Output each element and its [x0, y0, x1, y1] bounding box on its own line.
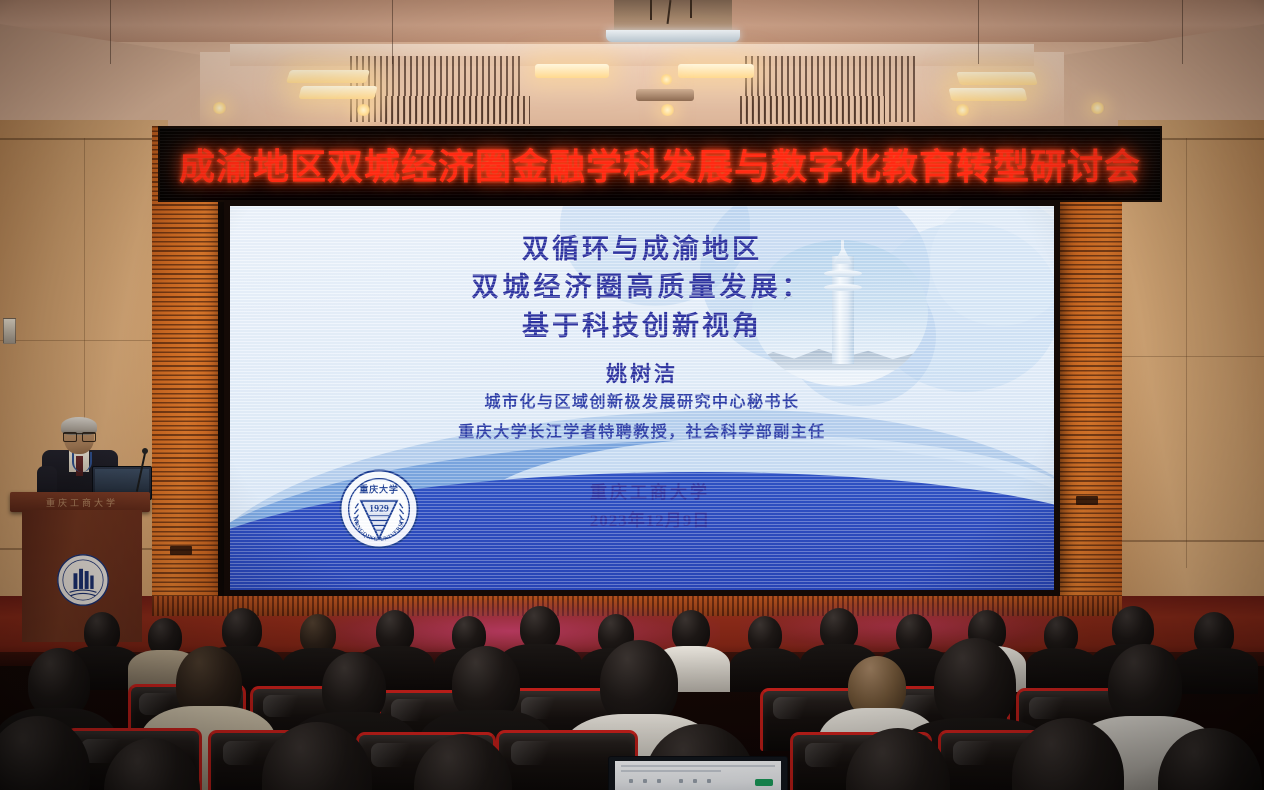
- slide-title-line1: 双循环与成渝地区: [230, 230, 1054, 268]
- wall-outlet: [3, 318, 16, 344]
- slide-date: 2023年12月9日: [350, 506, 950, 531]
- audience: [0, 600, 1264, 790]
- air-vent-icon: [385, 96, 530, 124]
- ceiling-light-icon: [678, 64, 754, 78]
- laptop-ui-dot: [657, 779, 661, 783]
- projector-cable: [690, 0, 692, 18]
- presenter-glasses-bridge: [63, 433, 95, 441]
- downlight-icon: [660, 104, 675, 116]
- cqu-logo-chinese: 重庆大学: [359, 484, 398, 495]
- podium-engraved-text: 重庆工商大学: [24, 492, 140, 512]
- audience-shoulders: [1174, 648, 1258, 694]
- laptop-toolbar: [621, 770, 721, 772]
- ceiling-light-icon: [286, 70, 370, 83]
- audience-head: [934, 638, 1016, 730]
- microphone-head: [142, 448, 148, 454]
- laptop-ui-dot: [693, 779, 697, 783]
- seat-gloss: [773, 697, 831, 719]
- wall-seam: [1118, 356, 1264, 357]
- audience-shoulders: [1026, 648, 1098, 692]
- projection-screen: 双循环与成渝地区 双城经济圈高质量发展： 基于科技创新视角 姚树洁 城市化与区域…: [224, 200, 1060, 596]
- slide-title-line2: 双城经济圈高质量发展：: [230, 268, 1054, 306]
- laptop-screen: [615, 761, 781, 790]
- auditorium-photo-scene: 成渝地区双城经济圈金融学科发展与数字化教育转型研讨会: [0, 0, 1264, 790]
- led-banner-text: 成渝地区双城经济圈金融学科发展与数字化教育转型研讨会: [179, 138, 1141, 190]
- audience-shoulders: [730, 648, 802, 692]
- hanging-wire: [978, 0, 979, 64]
- ceiling-light-icon: [948, 88, 1027, 101]
- laptop-ui-dot: [707, 779, 711, 783]
- downlight-icon: [356, 104, 371, 116]
- seat-gloss: [953, 741, 1019, 765]
- hanging-wire: [1182, 0, 1183, 64]
- slide-speaker-name: 姚树洁: [230, 358, 1054, 388]
- ceiling-light-icon: [956, 72, 1038, 85]
- seat-gloss: [1029, 697, 1087, 719]
- downlight-icon: [955, 104, 970, 116]
- wall-plate: [1076, 496, 1098, 505]
- downlight-icon: [1090, 102, 1105, 114]
- slide-speaker-role-1: 城市化与区域创新极发展研究中心秘书长: [230, 388, 1054, 412]
- projector-lens: [606, 30, 740, 42]
- ceiling-light-icon: [535, 64, 609, 78]
- ceiling-speaker: [636, 89, 694, 101]
- led-banner: 成渝地区双城经济圈金融学科发展与数字化教育转型研讨会: [158, 126, 1162, 202]
- slide-title-line3: 基于科技创新视角: [230, 307, 1054, 345]
- hanging-wire: [110, 0, 111, 64]
- laptop-ui-dot: [629, 779, 633, 783]
- presentation-slide: 双循环与成渝地区 双城经济圈高质量发展： 基于科技创新视角 姚树洁 城市化与区域…: [230, 206, 1054, 590]
- audience-head: [1108, 644, 1182, 726]
- wall-plate: [170, 546, 192, 555]
- cqu-logo-year: 1929: [369, 503, 389, 514]
- laptop-ui-dot: [643, 779, 647, 783]
- air-vent-icon: [740, 96, 885, 124]
- laptop-ui-dot: [679, 779, 683, 783]
- hanging-wire: [392, 0, 393, 64]
- downlight-icon: [212, 102, 227, 114]
- slide-speaker-role-2: 重庆大学长江学者特聘教授，社会科学部副主任: [230, 418, 1054, 442]
- projector-cable: [650, 0, 652, 20]
- ceiling-light-icon: [298, 86, 377, 99]
- presenter-lanyard: [72, 452, 92, 472]
- slide-title: 双循环与成渝地区 双城经济圈高质量发展： 基于科技创新视角: [230, 230, 1054, 345]
- wall-seam: [1186, 138, 1187, 568]
- chongqing-university-logo-icon: CHONGQING UNIVERSITY 1929 重庆大学: [338, 468, 420, 550]
- slide-venue: 重庆工商大学: [350, 478, 950, 503]
- projector-icon: [614, 0, 732, 34]
- wall-seam: [0, 340, 168, 341]
- seat-gloss: [511, 741, 577, 765]
- wall-seam: [1118, 540, 1264, 542]
- downlight-icon: [660, 74, 673, 85]
- laptop-toolbar: [621, 765, 775, 767]
- laptop-ui-accent: [755, 779, 773, 786]
- wall-seam: [0, 138, 168, 140]
- seat-gloss: [263, 695, 321, 717]
- laptop-icon[interactable]: [608, 756, 788, 790]
